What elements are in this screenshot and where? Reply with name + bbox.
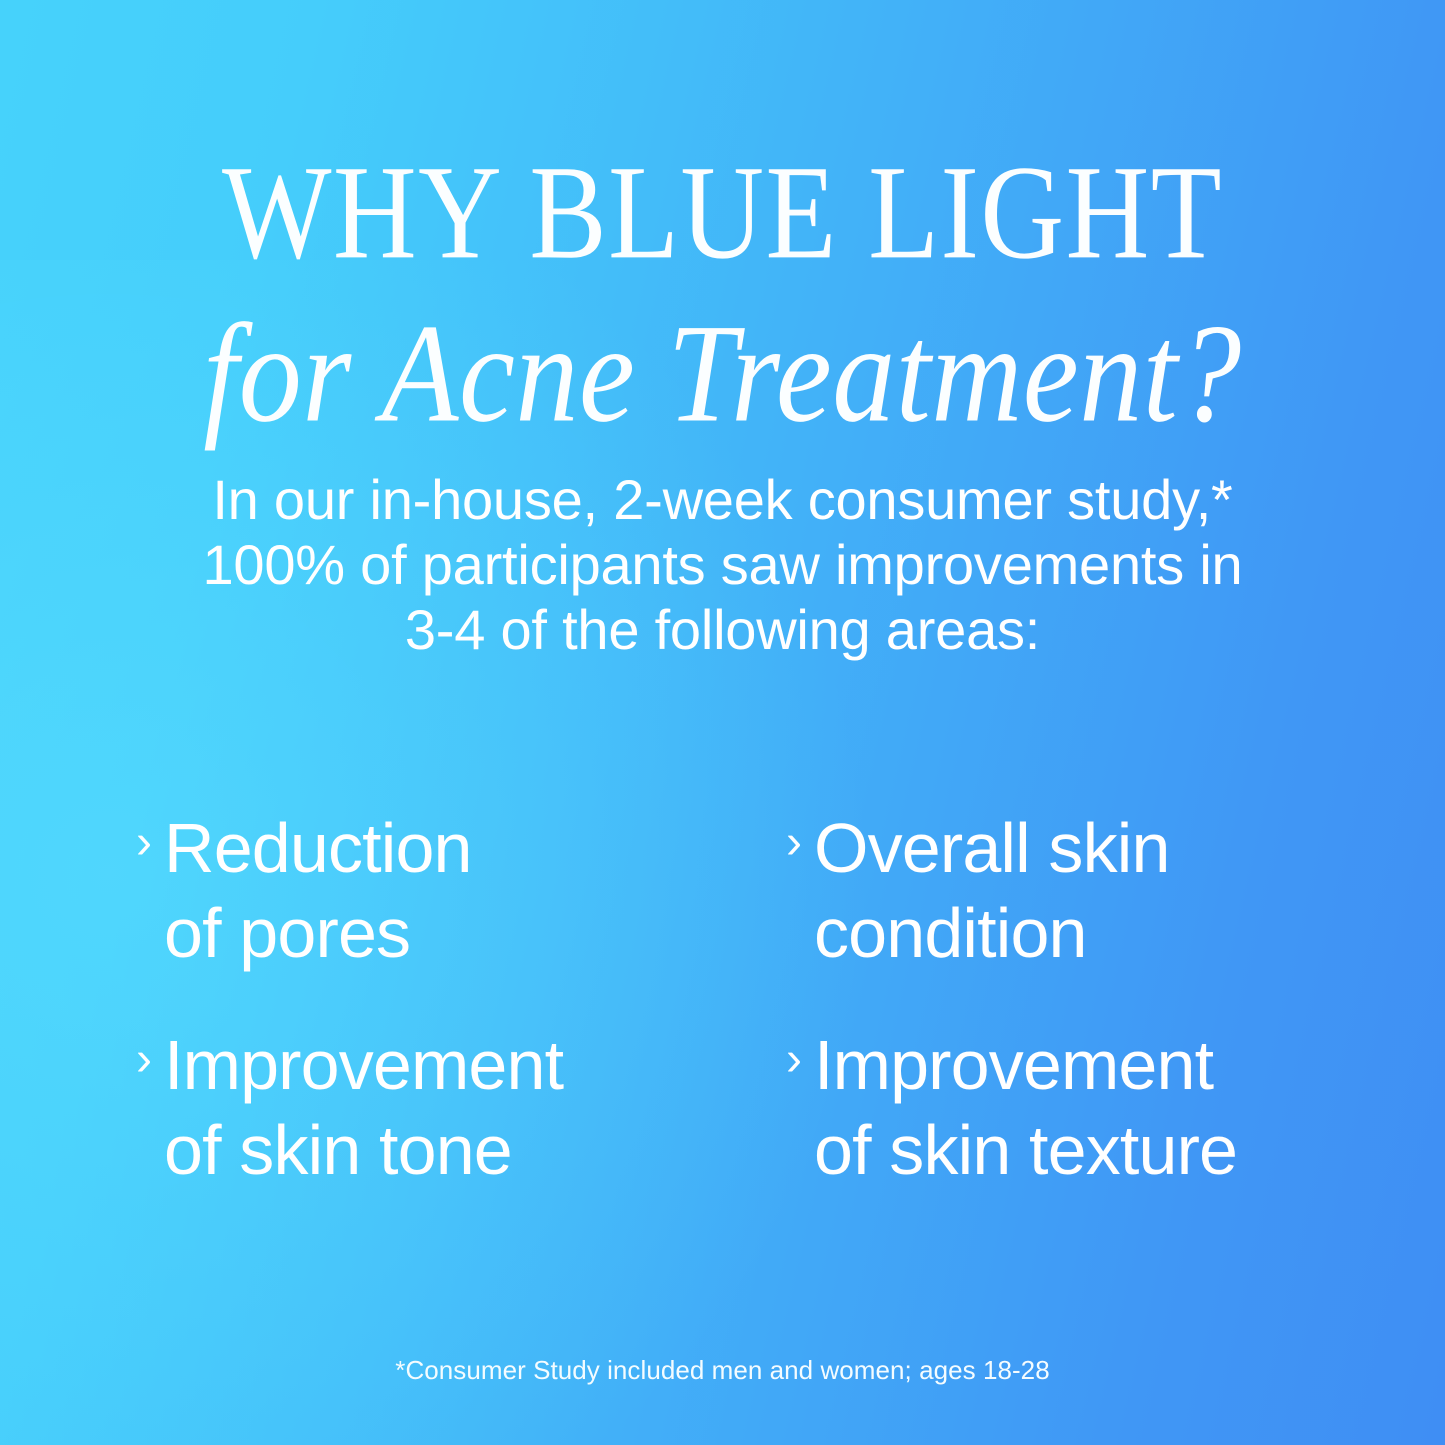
chevron-right-icon: › — [786, 814, 802, 873]
chevron-right-icon: › — [136, 1031, 152, 1090]
headline-line-secondary: for Acne Treatment? — [0, 304, 1445, 445]
benefit-label-overall-skin-condition: Overall skin condition — [814, 806, 1170, 977]
footnote-disclaimer: *Consumer Study included men and women; … — [0, 1354, 1445, 1388]
headline-line-primary: WHY BLUE LIGHT — [0, 146, 1445, 281]
promo-poster: WHY BLUE LIGHT for Acne Treatment? In ou… — [0, 0, 1445, 1445]
benefits-list: › Reduction of pores › Overall skin cond… — [136, 806, 1326, 1194]
intro-line-3: 3-4 of the following areas: — [163, 598, 1283, 663]
intro-line-2: 100% of participants saw improvements in — [163, 533, 1283, 598]
list-item: › Reduction of pores — [136, 806, 786, 977]
page-title: WHY BLUE LIGHT for Acne Treatment? — [0, 146, 1445, 430]
benefit-label-improvement-of-skin-tone: Improvement of skin tone — [164, 1023, 563, 1194]
benefit-label-reduction-of-pores: Reduction of pores — [164, 806, 472, 977]
chevron-right-icon: › — [136, 814, 152, 873]
intro-paragraph: In our in-house, 2-week consumer study,*… — [163, 468, 1283, 663]
chevron-right-icon: › — [786, 1031, 802, 1090]
list-item: › Improvement of skin texture — [786, 1023, 1326, 1194]
list-item: › Improvement of skin tone — [136, 1023, 786, 1194]
benefit-label-improvement-of-skin-texture: Improvement of skin texture — [814, 1023, 1237, 1194]
list-item: › Overall skin condition — [786, 806, 1326, 977]
intro-line-1: In our in-house, 2-week consumer study,* — [163, 468, 1283, 533]
